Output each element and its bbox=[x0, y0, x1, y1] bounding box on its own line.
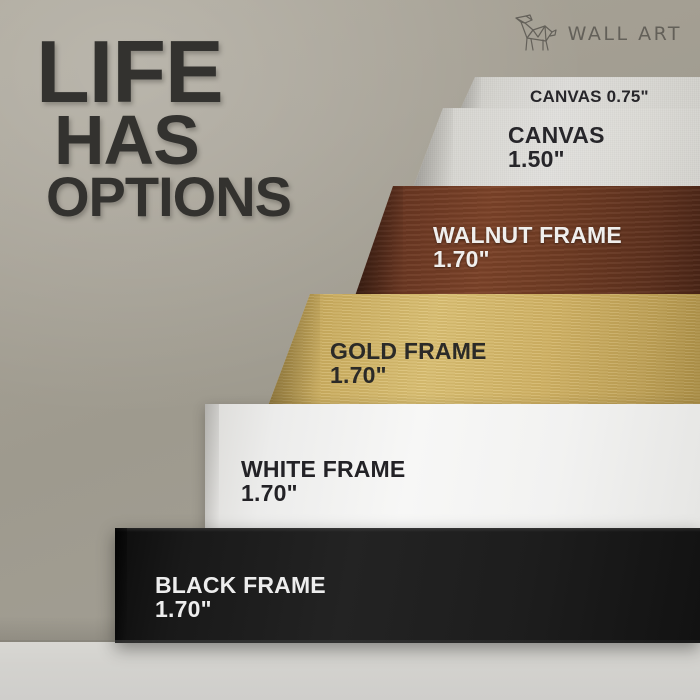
option-label-walnut-frame: WALNUT FRAME 1.70" bbox=[433, 224, 622, 272]
option-label-canvas-150: CANVAS 1.50" bbox=[508, 124, 605, 172]
headline-line-3: OPTIONS bbox=[36, 171, 376, 223]
floor-surface bbox=[0, 642, 700, 700]
layer-left-bevel bbox=[268, 294, 320, 406]
option-label-white-frame: WHITE FRAME 1.70" bbox=[241, 458, 405, 506]
option-layer-canvas-150[interactable]: CANVAS 1.50" bbox=[413, 108, 700, 188]
origami-goat-icon bbox=[512, 14, 560, 54]
product-options-poster: WALL ART LIFE HAS OPTIONS CANVAS 0.75" C… bbox=[0, 0, 700, 700]
layer-left-bevel bbox=[115, 528, 127, 643]
layer-bottom-edge bbox=[115, 640, 700, 643]
option-label-gold-frame: GOLD FRAME 1.70" bbox=[330, 340, 487, 388]
option-layer-gold-frame[interactable]: GOLD FRAME 1.70" bbox=[268, 294, 700, 406]
layer-left-bevel bbox=[205, 404, 219, 530]
headline-line-1: LIFE bbox=[36, 34, 376, 110]
option-label-black-frame: BLACK FRAME 1.70" bbox=[155, 574, 326, 622]
layer-left-bevel bbox=[413, 108, 453, 188]
option-layer-walnut-frame[interactable]: WALNUT FRAME 1.70" bbox=[355, 186, 700, 296]
option-layer-black-frame[interactable]: BLACK FRAME 1.70" bbox=[115, 528, 700, 643]
brand-wordmark: WALL ART bbox=[568, 23, 682, 45]
option-label-canvas-075: CANVAS 0.75" bbox=[530, 88, 649, 106]
option-layer-white-frame[interactable]: WHITE FRAME 1.70" bbox=[205, 404, 700, 530]
layer-top-bevel bbox=[115, 528, 700, 532]
page-title: LIFE HAS OPTIONS bbox=[36, 34, 376, 223]
brand-logo[interactable]: WALL ART bbox=[512, 14, 682, 54]
